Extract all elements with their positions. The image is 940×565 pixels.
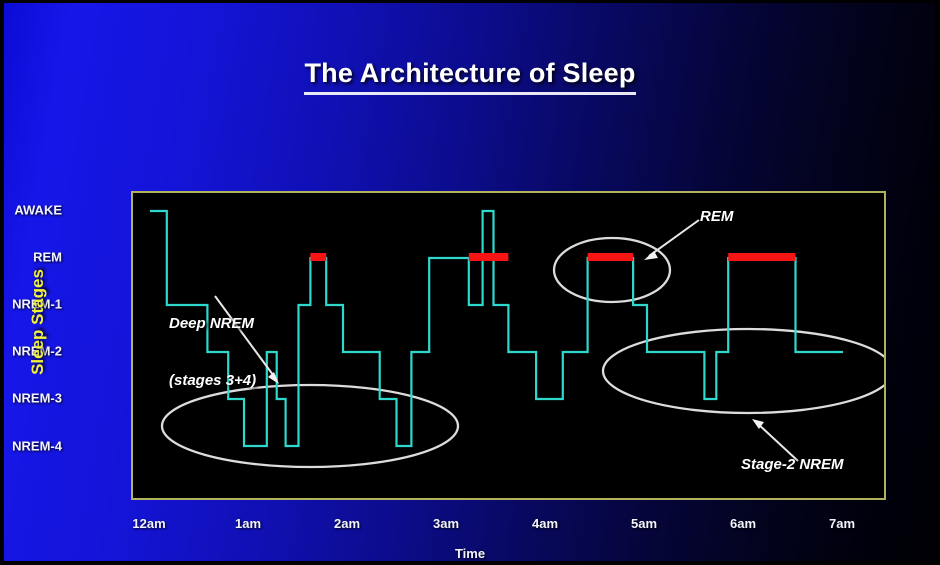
x-axis-title: Time — [0, 546, 940, 561]
x-tick-4am: 4am — [500, 516, 590, 531]
letterbox-right — [935, 0, 940, 565]
x-tick-1am: 1am — [203, 516, 293, 531]
x-tick-7am: 7am — [797, 516, 887, 531]
page-title: The Architecture of Sleep — [0, 58, 940, 95]
rem-bar — [588, 253, 634, 261]
y-tick-nrem-4: NREM-4 — [0, 439, 62, 454]
x-tick-6am: 6am — [698, 516, 788, 531]
annotation-deep-nrem-line1: Deep NREM — [169, 314, 256, 333]
slide-canvas: The Architecture of Sleep AWAKE REM NREM… — [0, 0, 940, 565]
x-tick-5am: 5am — [599, 516, 689, 531]
annotation-rem: REM — [700, 207, 733, 226]
rem-bar — [310, 253, 326, 261]
rem-bar — [469, 253, 509, 261]
y-axis-title: Sleep Stages — [28, 232, 48, 412]
ellipse-stage2-nrem — [603, 329, 884, 413]
x-tick-3am: 3am — [401, 516, 491, 531]
annotation-deep-nrem-line2: (stages 3+4) — [169, 371, 256, 390]
rem-period-bars — [310, 253, 795, 261]
page-title-text: The Architecture of Sleep — [304, 58, 635, 95]
hypnogram-plot: Deep NREM (stages 3+4) REM Stage-2 NREM — [131, 191, 886, 500]
arrow-rem — [649, 220, 699, 256]
rem-bar — [728, 253, 795, 261]
x-tick-2am: 2am — [302, 516, 392, 531]
arrow-rem-head — [644, 251, 658, 260]
y-tick-awake: AWAKE — [0, 203, 62, 218]
annotation-stage2-nrem: Stage-2 NREM — [741, 455, 844, 474]
x-tick-12am: 12am — [104, 516, 194, 531]
ellipse-rem — [554, 238, 670, 302]
annotation-deep-nrem: Deep NREM (stages 3+4) — [169, 276, 256, 428]
letterbox-left — [0, 0, 4, 565]
